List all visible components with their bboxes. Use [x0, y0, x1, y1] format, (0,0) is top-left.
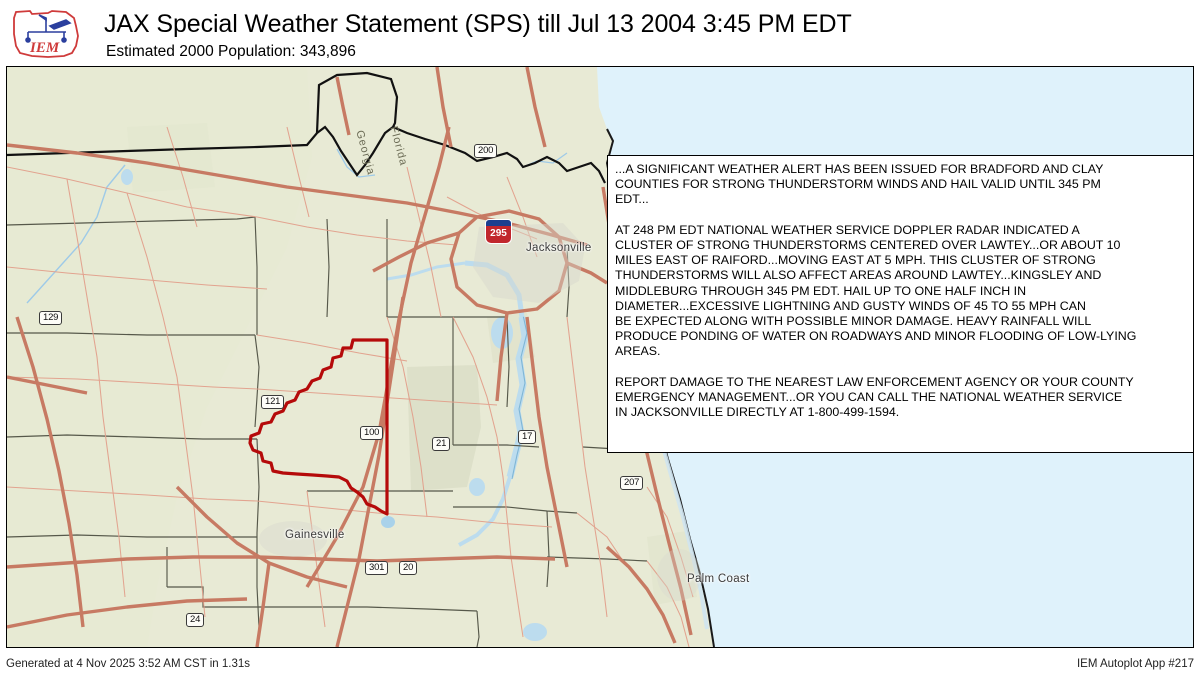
statement-text-panel: ...A SIGNIFICANT WEATHER ALERT HAS BEEN …	[607, 155, 1194, 453]
page-title: JAX Special Weather Statement (SPS) till…	[104, 10, 852, 39]
route-shield-129: 129	[39, 311, 62, 325]
place-label-gainesville: Gainesville	[285, 529, 345, 541]
footer-app-id: IEM Autoplot App #217	[1077, 658, 1194, 670]
page-subtitle: Estimated 2000 Population: 343,896	[106, 43, 356, 61]
route-shield-200: 200	[474, 144, 497, 158]
route-shield-301: 301	[365, 561, 388, 575]
interstate-shield-295: 295	[485, 219, 512, 244]
statement-body: ...A SIGNIFICANT WEATHER ALERT HAS BEEN …	[615, 162, 1194, 420]
route-shield-24: 24	[186, 613, 204, 627]
interstate-shield-top	[485, 219, 512, 226]
route-shield-100: 100	[360, 426, 383, 440]
map-canvas[interactable]: Jacksonville Gainesville Palm Coast Geor…	[7, 67, 1193, 647]
map-frame[interactable]: Jacksonville Gainesville Palm Coast Geor…	[6, 66, 1194, 648]
page-header: IEM JAX Special Weather Statement (SPS) …	[0, 0, 1200, 66]
svg-text:IEM: IEM	[29, 40, 60, 56]
route-shield-17: 17	[518, 430, 536, 444]
autoplot-page: IEM JAX Special Weather Statement (SPS) …	[0, 0, 1200, 675]
route-shield-20: 20	[399, 561, 417, 575]
iem-logo: IEM	[8, 6, 84, 60]
route-shield-207: 207	[620, 476, 643, 490]
place-label-palm-coast: Palm Coast	[687, 573, 749, 585]
footer-generated-text: Generated at 4 Nov 2025 3:52 AM CST in 1…	[6, 658, 250, 670]
route-shield-121: 121	[261, 395, 284, 409]
route-shield-21: 21	[432, 437, 450, 451]
interstate-shield-number: 295	[485, 226, 512, 244]
place-label-jacksonville: Jacksonville	[526, 242, 592, 254]
